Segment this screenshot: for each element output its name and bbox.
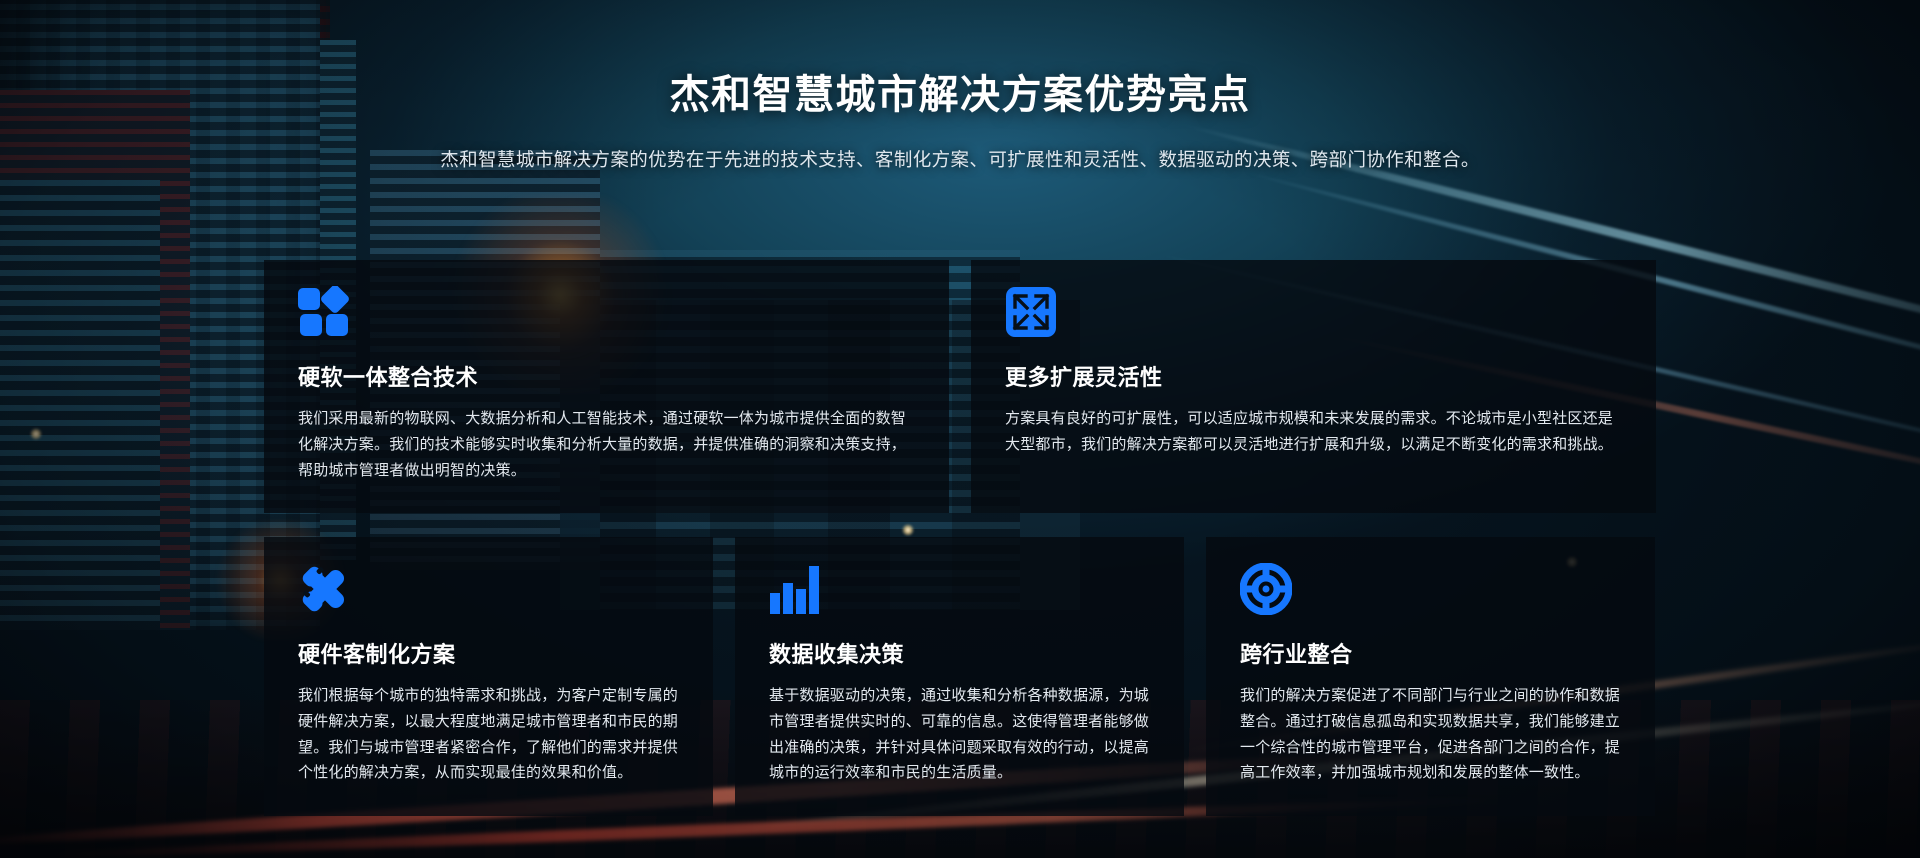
feature-card[interactable]: 更多扩展灵活性 方案具有良好的可扩展性，可以适应城市规模和未来发展的需求。不论城… <box>971 260 1656 513</box>
crossed-tools-icon <box>298 563 679 615</box>
feature-card-title: 数据收集决策 <box>769 637 1150 669</box>
feature-card[interactable]: 硬件客制化方案 我们根据每个城市的独特需求和挑战，为客户定制专属的硬件解决方案，… <box>264 537 713 816</box>
feature-card-body: 我们根据每个城市的独特需求和挑战，为客户定制专属的硬件解决方案，以最大程度地满足… <box>298 683 679 786</box>
crosshair-target-icon <box>1240 563 1621 615</box>
page-header: 杰和智慧城市解决方案优势亮点 杰和智慧城市解决方案的优势在于先进的技术支持、客制… <box>0 0 1920 172</box>
page-content: 杰和智慧城市解决方案优势亮点 杰和智慧城市解决方案的优势在于先进的技术支持、客制… <box>0 0 1920 858</box>
page-title: 杰和智慧城市解决方案优势亮点 <box>0 62 1920 120</box>
feature-card[interactable]: 跨行业整合 我们的解决方案促进了不同部门与行业之间的协作和数据整合。通过打破信息… <box>1206 537 1655 816</box>
feature-card-body: 基于数据驱动的决策，通过收集和分析各种数据源，为城市管理者提供实时的、可靠的信息… <box>769 683 1150 786</box>
feature-card-body: 我们采用最新的物联网、大数据分析和人工智能技术，通过硬软一体为城市提供全面的数智… <box>298 406 915 483</box>
feature-card-body: 我们的解决方案促进了不同部门与行业之间的协作和数据整合。通过打破信息孤岛和实现数… <box>1240 683 1621 786</box>
feature-card-title: 跨行业整合 <box>1240 637 1621 669</box>
feature-card-row-top: 硬软一体整合技术 我们采用最新的物联网、大数据分析和人工智能技术，通过硬软一体为… <box>264 260 1656 513</box>
feature-card-title: 硬软一体整合技术 <box>298 360 915 392</box>
feature-card-title: 更多扩展灵活性 <box>1005 360 1622 392</box>
expand-arrows-icon <box>1005 286 1622 338</box>
page-stage: 杰和智慧城市解决方案优势亮点 杰和智慧城市解决方案的优势在于先进的技术支持、客制… <box>0 0 1920 858</box>
page-subtitle: 杰和智慧城市解决方案的优势在于先进的技术支持、客制化方案、可扩展性和灵活性、数据… <box>0 146 1920 172</box>
feature-card[interactable]: 数据收集决策 基于数据驱动的决策，通过收集和分析各种数据源，为城市管理者提供实时… <box>735 537 1184 816</box>
feature-card[interactable]: 硬软一体整合技术 我们采用最新的物联网、大数据分析和人工智能技术，通过硬软一体为… <box>264 260 949 513</box>
feature-card-row-bottom: 硬件客制化方案 我们根据每个城市的独特需求和挑战，为客户定制专属的硬件解决方案，… <box>264 537 1656 816</box>
four-blocks-icon <box>298 286 915 338</box>
feature-card-title: 硬件客制化方案 <box>298 637 679 669</box>
feature-card-body: 方案具有良好的可扩展性，可以适应城市规模和未来发展的需求。不论城市是小型社区还是… <box>1005 406 1622 458</box>
bar-chart-icon <box>769 563 1150 615</box>
